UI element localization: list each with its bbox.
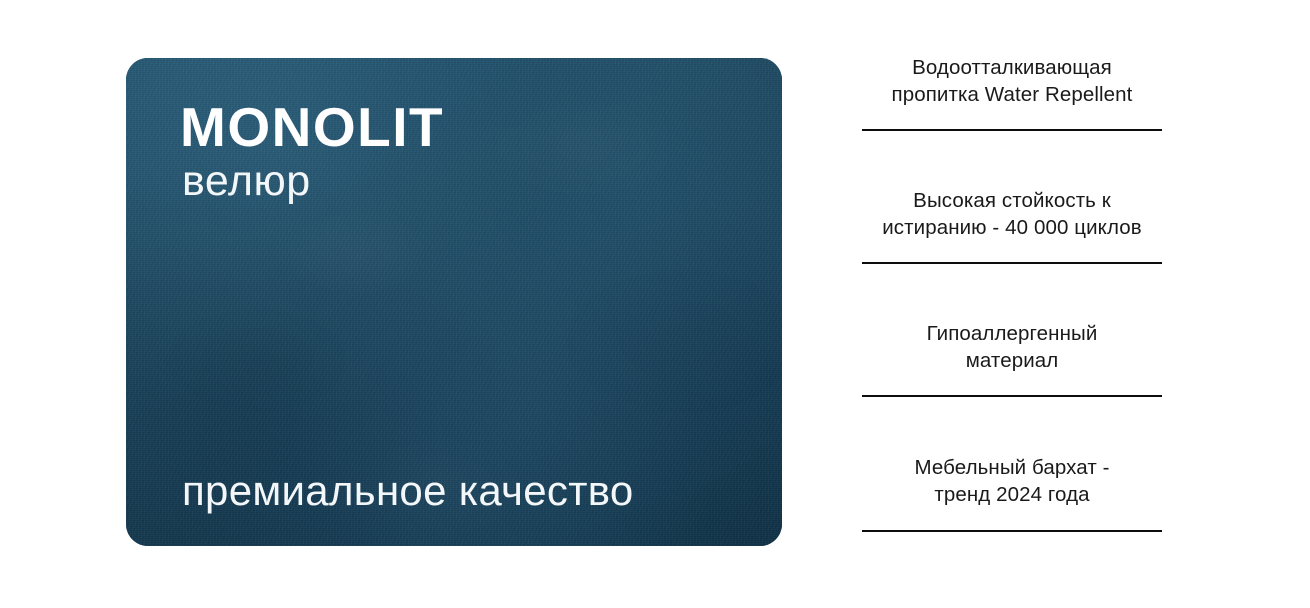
feature-line-1: Высокая стойкость к: [913, 189, 1111, 212]
feature-line-1: Мебельный бархат -: [914, 456, 1109, 479]
feature-text: Гипоаллергенный материал: [862, 264, 1162, 375]
feature-item: Водоотталкивающая пропитка Water Repelle…: [862, 52, 1162, 131]
feature-line-2: материал: [966, 349, 1059, 372]
fabric-swatch: MONOLIT велюр премиальное качество: [126, 58, 782, 546]
feature-line-2: пропитка Water Repellent: [892, 83, 1133, 106]
quality-caption: премиальное качество: [182, 470, 634, 512]
brand-title: MONOLIT: [180, 100, 444, 155]
feature-line-2: истиранию - 40 000 циклов: [882, 216, 1141, 239]
feature-text: Мебельный бархат - тренд 2024 года: [862, 397, 1162, 509]
feature-item: Гипоаллергенный материал: [862, 264, 1162, 397]
material-type-label: велюр: [182, 160, 311, 203]
feature-item: Высокая стойкость к истиранию - 40 000 ц…: [862, 131, 1162, 264]
feature-item: Мебельный бархат - тренд 2024 года: [862, 397, 1162, 532]
feature-line-2: тренд 2024 года: [934, 483, 1089, 506]
feature-text: Водоотталкивающая пропитка Water Repelle…: [862, 52, 1162, 109]
feature-divider: [862, 530, 1162, 532]
feature-text: Высокая стойкость к истиранию - 40 000 ц…: [862, 131, 1162, 242]
swatch-content: MONOLIT велюр премиальное качество: [126, 58, 782, 546]
feature-line-1: Гипоаллергенный: [927, 322, 1098, 345]
feature-line-1: Водоотталкивающая: [912, 56, 1112, 79]
feature-list: Водоотталкивающая пропитка Water Repelle…: [862, 52, 1162, 532]
